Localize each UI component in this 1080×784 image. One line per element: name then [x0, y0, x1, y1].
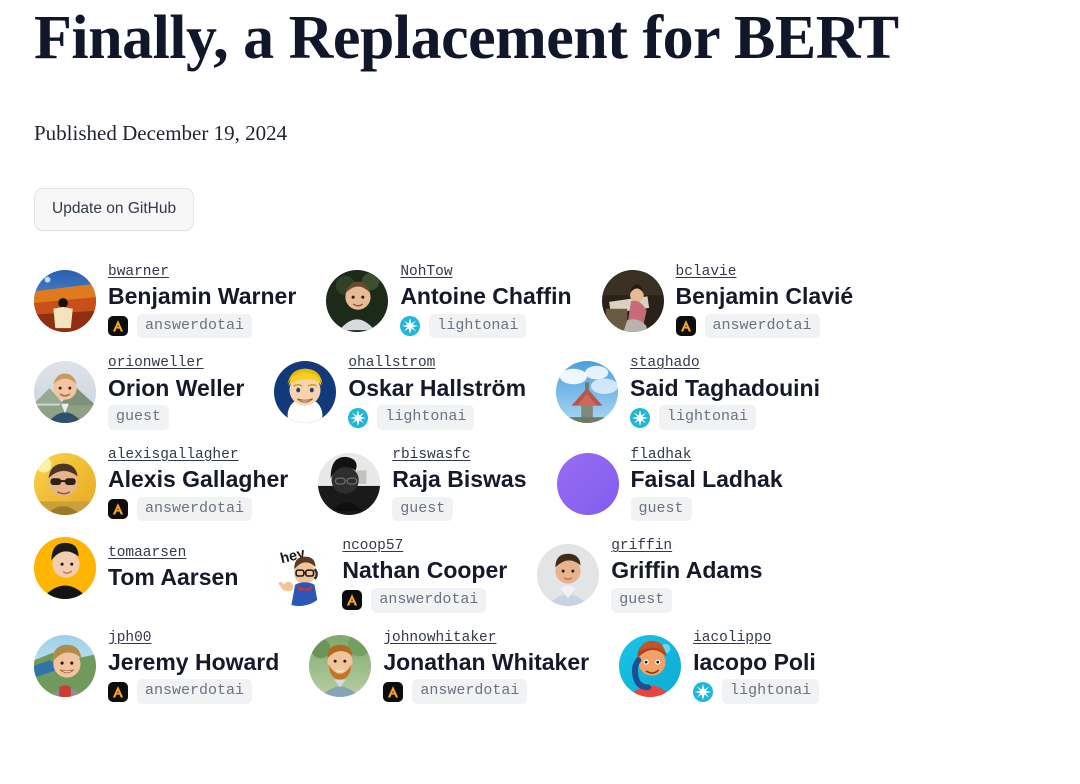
org-badge[interactable]: answerdotai	[137, 314, 252, 339]
author-handle-link[interactable]: jph00	[108, 629, 152, 647]
author-handle-link[interactable]: orionweller	[108, 354, 204, 372]
author-info: bclavieBenjamin Clavié answerdotai	[676, 263, 854, 338]
answerdotai-icon[interactable]	[108, 316, 128, 336]
author-card[interactable]: orionwellerOrion Wellerguest	[34, 350, 244, 433]
org-badge[interactable]: answerdotai	[412, 679, 527, 704]
org-badge[interactable]: guest	[631, 497, 692, 522]
author-handle-link[interactable]: griffin	[611, 537, 672, 555]
author-handle-link[interactable]: bwarner	[108, 263, 169, 281]
avatar[interactable]	[34, 537, 96, 599]
author-info: bwarnerBenjamin Warner answerdotai	[108, 263, 296, 338]
author-info: ohallstromOskar Hallström lightonai	[348, 354, 526, 429]
author-org-row: lightonai	[348, 405, 474, 430]
update-on-github-button[interactable]: Update on GitHub	[34, 188, 194, 231]
author-name: Benjamin Warner	[108, 282, 296, 311]
author-name: Oskar Hallström	[348, 374, 526, 403]
author-name: Tom Aarsen	[108, 563, 238, 592]
author-card[interactable]: johnowhitakerJonathan Whitaker answerdot…	[309, 625, 589, 708]
author-card[interactable]: NohTowAntoine Chaffin lightonai	[326, 259, 571, 342]
author-org-row: answerdotai	[108, 679, 252, 704]
author-handle-link[interactable]: tomaarsen	[108, 544, 186, 562]
author-name: Nathan Cooper	[342, 556, 507, 585]
author-org-row: guest	[611, 588, 672, 613]
org-badge[interactable]: guest	[611, 588, 672, 613]
author-org-row: answerdotai	[676, 314, 820, 339]
author-info: staghadoSaid Taghadouini lightonai	[630, 354, 820, 429]
author-org-row: answerdotai	[108, 497, 252, 522]
author-handle-link[interactable]: rbiswasfc	[392, 446, 470, 464]
authors-list: bwarnerBenjamin Warner answerdotai NohTo…	[34, 259, 1046, 716]
author-org-row: lightonai	[400, 314, 526, 339]
avatar[interactable]	[602, 270, 664, 332]
author-name: Said Taghadouini	[630, 374, 820, 403]
author-info: griffinGriffin Adamsguest	[611, 537, 762, 612]
org-badge[interactable]: lightonai	[429, 314, 526, 339]
author-handle-link[interactable]: alexisgallagher	[108, 446, 239, 464]
avatar[interactable]	[34, 453, 96, 515]
author-card[interactable]: bclavieBenjamin Clavié answerdotai	[602, 259, 854, 342]
author-handle-link[interactable]: ohallstrom	[348, 354, 435, 372]
author-name: Griffin Adams	[611, 556, 762, 585]
lightonai-icon[interactable]	[348, 408, 368, 428]
org-badge[interactable]: answerdotai	[137, 497, 252, 522]
author-handle-link[interactable]: iacolippo	[693, 629, 771, 647]
author-name: Jonathan Whitaker	[383, 648, 589, 677]
answerdotai-icon[interactable]	[342, 590, 362, 610]
author-name: Alexis Gallagher	[108, 465, 288, 494]
author-info: orionwellerOrion Wellerguest	[108, 354, 244, 429]
lightonai-icon[interactable]	[630, 408, 650, 428]
author-name: Raja Biswas	[392, 465, 526, 494]
author-card[interactable]: rbiswasfcRaja Biswasguest	[318, 442, 526, 525]
author-card[interactable]: jph00Jeremy Howard answerdotai	[34, 625, 279, 708]
author-card[interactable]: bwarnerBenjamin Warner answerdotai	[34, 259, 296, 342]
org-badge[interactable]: lightonai	[659, 405, 756, 430]
author-handle-link[interactable]: fladhak	[631, 446, 692, 464]
author-card[interactable]: alexisgallagherAlexis Gallagher answerdo…	[34, 442, 288, 525]
answerdotai-icon[interactable]	[108, 682, 128, 702]
avatar[interactable]: hey	[268, 544, 330, 606]
page-title: Finally, a Replacement for BERT	[34, 0, 1046, 71]
author-info: iacolippoIacopo Poli lightonai	[693, 629, 819, 704]
avatar[interactable]	[326, 270, 388, 332]
org-badge[interactable]: lightonai	[377, 405, 474, 430]
author-name: Orion Weller	[108, 374, 244, 403]
avatar[interactable]	[274, 361, 336, 423]
avatar[interactable]	[557, 453, 619, 515]
author-card[interactable]: hey ncoop57Nathan Cooper answerdotai	[268, 533, 507, 616]
author-info: ncoop57Nathan Cooper answerdotai	[342, 537, 507, 612]
article-page: Finally, a Replacement for BERT Publishe…	[0, 0, 1080, 716]
author-card[interactable]: griffinGriffin Adamsguest	[537, 533, 762, 616]
author-org-row: guest	[392, 497, 453, 522]
author-handle-link[interactable]: johnowhitaker	[383, 629, 496, 647]
answerdotai-icon[interactable]	[676, 316, 696, 336]
answerdotai-icon[interactable]	[108, 499, 128, 519]
author-card[interactable]: ohallstromOskar Hallström lightonai	[274, 350, 526, 433]
lightonai-icon[interactable]	[693, 682, 713, 702]
avatar[interactable]	[34, 635, 96, 697]
avatar[interactable]	[34, 361, 96, 423]
author-info: jph00Jeremy Howard answerdotai	[108, 629, 279, 704]
author-info: rbiswasfcRaja Biswasguest	[392, 446, 526, 521]
author-org-row: lightonai	[693, 679, 819, 704]
author-org-row: guest	[631, 497, 692, 522]
answerdotai-icon[interactable]	[383, 682, 403, 702]
org-badge[interactable]: guest	[108, 405, 169, 430]
author-name: Benjamin Clavié	[676, 282, 854, 311]
author-org-row: answerdotai	[383, 679, 527, 704]
author-org-row: answerdotai	[108, 314, 252, 339]
author-info: fladhakFaisal Ladhakguest	[631, 446, 783, 521]
author-card[interactable]: fladhakFaisal Ladhakguest	[557, 442, 783, 525]
author-handle-link[interactable]: staghado	[630, 354, 700, 372]
avatar[interactable]	[34, 270, 96, 332]
org-badge[interactable]: answerdotai	[371, 588, 486, 613]
published-date: Published December 19, 2024	[34, 121, 1046, 146]
author-info: tomaarsenTom Aarsen	[108, 544, 238, 592]
author-org-row: guest	[108, 405, 169, 430]
org-badge[interactable]: lightonai	[722, 679, 819, 704]
author-name: Faisal Ladhak	[631, 465, 783, 494]
org-badge[interactable]: answerdotai	[137, 679, 252, 704]
org-badge[interactable]: guest	[392, 497, 453, 522]
author-info: NohTowAntoine Chaffin lightonai	[400, 263, 571, 338]
org-badge[interactable]: answerdotai	[705, 314, 820, 339]
author-handle-link[interactable]: NohTow	[400, 263, 452, 281]
avatar[interactable]	[537, 544, 599, 606]
avatar[interactable]	[619, 635, 681, 697]
author-name: Jeremy Howard	[108, 648, 279, 677]
author-card[interactable]: iacolippoIacopo Poli lightonai	[619, 625, 819, 708]
actions-row: Update on GitHub	[34, 188, 1046, 231]
author-card[interactable]: staghadoSaid Taghadouini lightonai	[556, 350, 820, 433]
author-info: alexisgallagherAlexis Gallagher answerdo…	[108, 446, 288, 521]
avatar[interactable]	[309, 635, 371, 697]
author-org-row: answerdotai	[342, 588, 486, 613]
author-org-row: lightonai	[630, 405, 756, 430]
author-card[interactable]: tomaarsenTom Aarsen	[34, 533, 238, 603]
author-handle-link[interactable]: bclavie	[676, 263, 737, 281]
author-name: Iacopo Poli	[693, 648, 819, 677]
avatar[interactable]	[318, 453, 380, 515]
author-handle-link[interactable]: ncoop57	[342, 537, 403, 555]
avatar[interactable]	[556, 361, 618, 423]
lightonai-icon[interactable]	[400, 316, 420, 336]
author-name: Antoine Chaffin	[400, 282, 571, 311]
author-info: johnowhitakerJonathan Whitaker answerdot…	[383, 629, 589, 704]
